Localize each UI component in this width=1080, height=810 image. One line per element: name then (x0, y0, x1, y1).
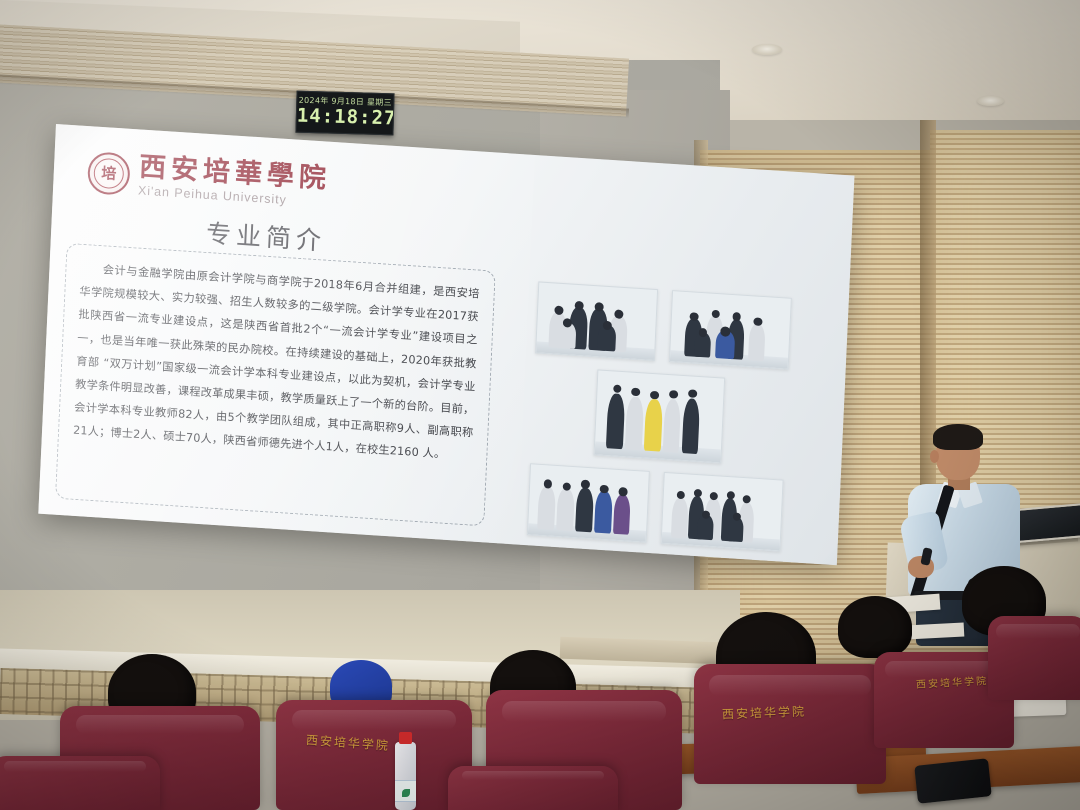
slide-body-text: 会计与金融学院由原会计学院与商学院于2018年6月合并组建，是西安培华学院规模较… (73, 257, 481, 468)
audience-chair (448, 766, 618, 810)
chair-embroidery: 西安培华学院 (722, 703, 807, 723)
audience-chair (0, 756, 160, 810)
bottle-logo-icon (402, 789, 410, 797)
group-photo (669, 290, 792, 370)
chair-embroidery: 西安培华学院 (306, 731, 391, 754)
audience-chair (988, 616, 1080, 700)
ceiling-downlight-icon (977, 96, 1004, 106)
logo-text: 西安培華學院 Xi'an Peihua University (138, 153, 332, 209)
smartphone-on-desk (914, 758, 992, 804)
audience-head (838, 596, 912, 658)
bottle-cap (399, 732, 412, 744)
group-photo (535, 281, 658, 361)
slide-photo-grid (503, 280, 814, 565)
chair-embroidery: 西安培华学院 (916, 672, 989, 691)
group-photo (527, 463, 650, 543)
group-photo (594, 369, 726, 463)
photo-row-top (512, 280, 815, 371)
group-photo (661, 472, 784, 552)
photo-row-bottom (504, 462, 807, 553)
seal-glyph: 培 (89, 153, 129, 193)
slide-text-box: 会计与金融学院由原会计学院与商学院于2018年6月合并组建，是西安培华学院规模较… (55, 243, 496, 526)
university-logo: 培 西安培華學院 Xi'an Peihua University (87, 150, 332, 209)
audience-chair: 西安培华学院 (694, 664, 886, 784)
university-seal-icon: 培 (87, 151, 131, 196)
photo-row-middle (508, 364, 811, 469)
digital-wall-clock: 2024年 9月18日 星期三 14:18:27 (295, 91, 394, 136)
presenter-hair (933, 424, 983, 450)
lecture-hall-scene: 2024年 9月18日 星期三 14:18:27 培 西安培華學院 Xi'an … (0, 0, 1080, 810)
clock-time: 14:18:27 (297, 106, 394, 129)
projection-screen: 培 西安培華學院 Xi'an Peihua University 专业简介 会计… (38, 124, 854, 565)
slide-surface: 培 西安培華學院 Xi'an Peihua University 专业简介 会计… (38, 124, 854, 565)
water-bottle (395, 742, 416, 810)
audience-chair: 西安培华学院 (276, 700, 472, 810)
ceiling-downlight-icon (752, 44, 782, 55)
